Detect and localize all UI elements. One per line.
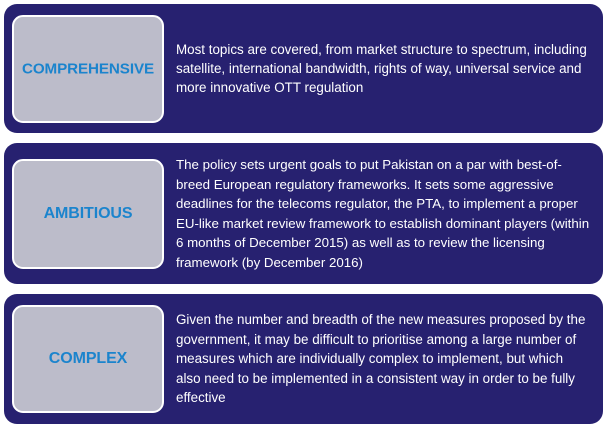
panel-label-ambitious: AMBITIOUS <box>44 205 133 223</box>
label-box-ambitious: AMBITIOUS <box>12 159 164 269</box>
panel-body-comprehensive: Most topics are covered, from market str… <box>164 40 603 98</box>
label-box-comprehensive: COMPREHENSIVE <box>12 15 164 123</box>
panel-ambitious: AMBITIOUS The policy sets urgent goals t… <box>4 143 603 284</box>
three-panel-diagram: COMPREHENSIVE Most topics are covered, f… <box>0 0 607 428</box>
panel-complex: COMPLEX Given the number and breadth of … <box>4 294 603 424</box>
label-box-complex: COMPLEX <box>12 305 164 413</box>
panel-body-complex: Given the number and breadth of the new … <box>164 310 603 407</box>
panel-label-complex: COMPLEX <box>49 350 127 368</box>
panel-body-ambitious: The policy sets urgent goals to put Paki… <box>164 155 603 272</box>
panel-label-comprehensive: COMPREHENSIVE <box>22 60 154 77</box>
panel-comprehensive: COMPREHENSIVE Most topics are covered, f… <box>4 4 603 133</box>
